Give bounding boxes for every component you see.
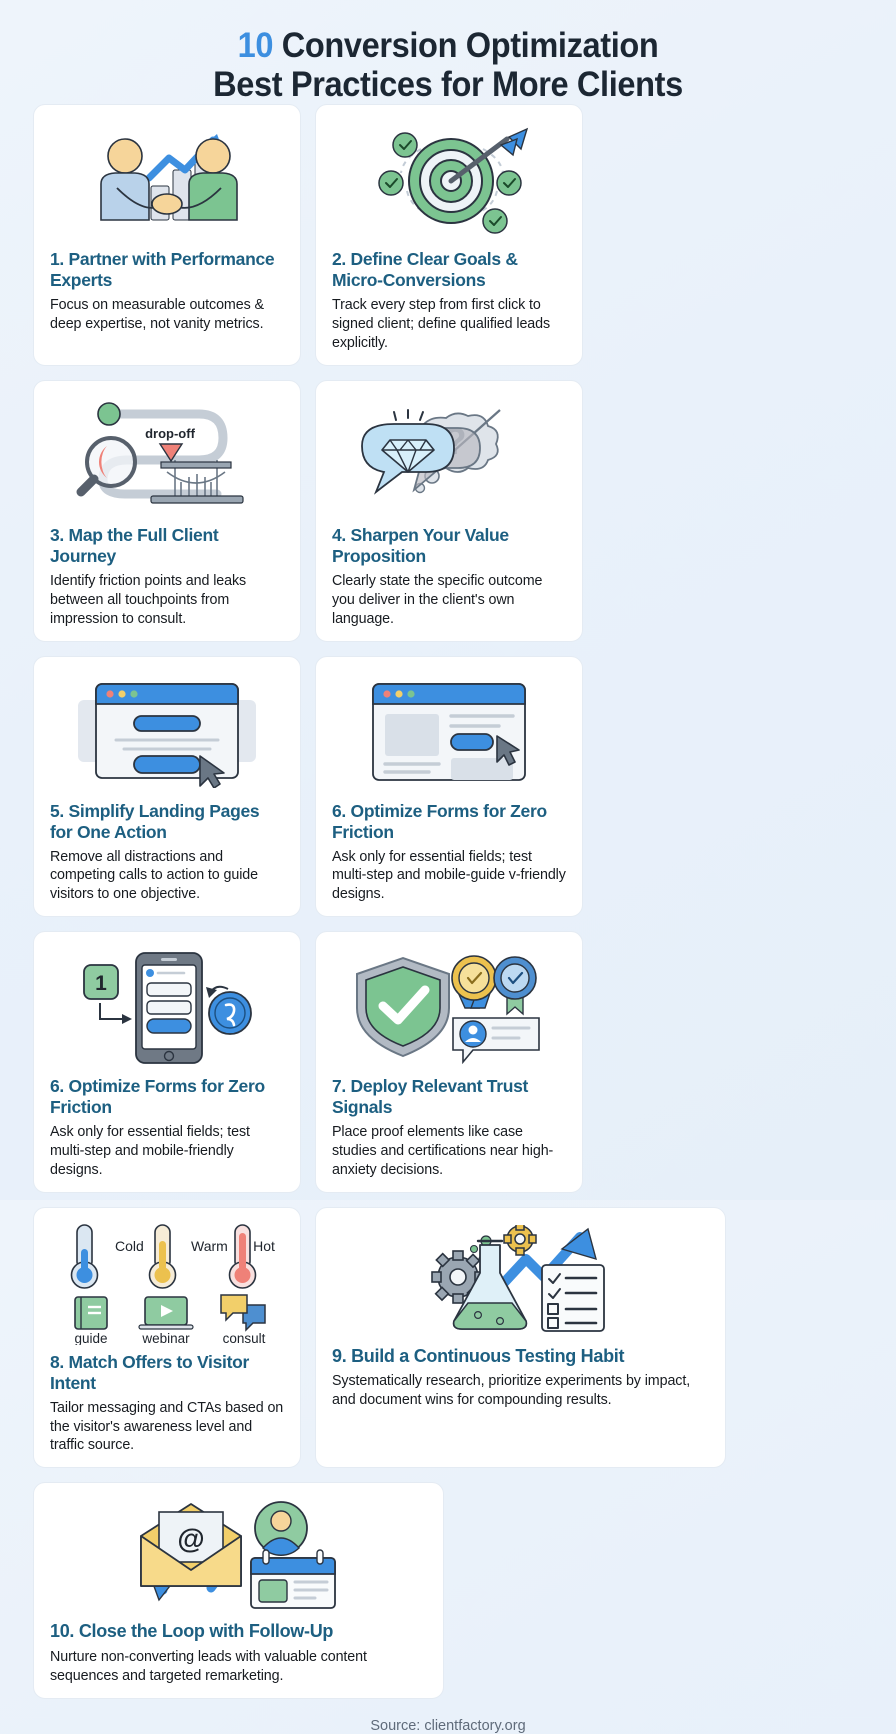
card-description: Clearly state the specific outcome you d… — [332, 572, 566, 629]
infographic-page: 10 Conversion Optimization Best Practice… — [0, 0, 896, 1200]
svg-text:@: @ — [177, 1523, 204, 1554]
card-1[interactable]: 1. Partner with Performance Experts Focu… — [33, 104, 301, 366]
card-description: Identify friction points and leaks betwe… — [50, 572, 284, 629]
card-heading: 1. Partner with Performance Experts — [50, 249, 284, 291]
card-heading: 6. Optimize Forms for Zero Friction — [332, 801, 566, 843]
title-line-1: 10 Conversion Optimization — [31, 26, 864, 65]
handshake-growth-icon — [50, 119, 284, 243]
art-label-dropoff: drop-off — [145, 426, 195, 441]
envelope-avatar-calendar-icon: @ — [50, 1497, 427, 1615]
card-9[interactable]: Cold Warm — [33, 1207, 301, 1469]
card-description: Tailor messaging and CTAs based on the v… — [50, 1399, 284, 1456]
card-description: Place proof elements like case studies a… — [332, 1123, 566, 1180]
card-heading: 5. Simplify Landing Pages for One Action — [50, 801, 284, 843]
shield-badges-testimonial-icon — [332, 946, 566, 1070]
page-title: 10 Conversion Optimization Best Practice… — [0, 0, 896, 104]
mobile-form-steps-icon: 1 — [50, 946, 284, 1070]
speech-bubble-diamond-icon: ? — [332, 395, 566, 519]
art-label-webinar: webinar — [141, 1331, 190, 1345]
card-8[interactable]: 7. Deploy Relevant Trust Signals Place p… — [315, 931, 583, 1193]
flask-gears-checklist-icon — [332, 1222, 709, 1340]
cards-grid: 1. Partner with Performance Experts Focu… — [33, 104, 863, 1698]
card-heading: 10. Close the Loop with Follow-Up — [50, 1621, 427, 1643]
card-description: Ask only for essential fields; test mult… — [332, 848, 566, 905]
card-heading: 8. Match Offers to Visitor Intent — [50, 1352, 284, 1394]
title-line-2: Best Practices for More Clients — [31, 65, 864, 104]
art-label-consult: consult — [223, 1331, 266, 1345]
card-heading: 4. Sharpen Your Value Proposition — [332, 525, 566, 567]
target-arrow-checks-icon — [332, 119, 566, 243]
art-label-step: 1 — [95, 972, 107, 995]
card-10[interactable]: 9. Build a Continuous Testing Habit Syst… — [315, 1207, 726, 1469]
card-description: Focus on measurable outcomes & deep expe… — [50, 296, 284, 334]
card-description: Remove all distractions and competing ca… — [50, 848, 284, 905]
card-description: Ask only for essential fields; test mult… — [50, 1123, 284, 1180]
card-4[interactable]: ? — [315, 380, 583, 642]
card-7[interactable]: 1 6. Optimize Forms for Zero Friction As… — [33, 931, 301, 1193]
title-number: 10 — [238, 26, 273, 65]
card-heading: 6. Optimize Forms for Zero Friction — [50, 1076, 284, 1118]
journey-map-magnifier-icon: drop-off — [50, 395, 284, 519]
card-heading: 9. Build a Continuous Testing Habit — [332, 1346, 709, 1368]
card-3[interactable]: drop-off — [33, 380, 301, 642]
card-description: Track every step from first click to sig… — [332, 296, 566, 353]
card-heading: 3. Map the Full Client Journey — [50, 525, 284, 567]
form-layout-window-icon — [332, 671, 566, 795]
card-heading: 7. Deploy Relevant Trust Signals — [332, 1076, 566, 1118]
art-label-guide: guide — [74, 1331, 107, 1345]
source-footer: Source: clientfactory.org — [0, 1718, 896, 1734]
card-description: Systematically research, prioritize expe… — [332, 1372, 709, 1410]
thermometers-intent-icon: Cold Warm — [50, 1222, 284, 1346]
landing-page-window-icon — [50, 671, 284, 795]
art-label-hot: Hot — [253, 1238, 275, 1254]
card-2[interactable]: 2. Define Clear Goals & Micro-Conversion… — [315, 104, 583, 366]
card-11[interactable]: @ 10. Close the Lo — [33, 1482, 444, 1698]
art-label-warm: Warm — [191, 1238, 228, 1254]
title-line-1-rest: Conversion Optimization — [273, 26, 658, 65]
card-6[interactable]: 6. Optimize Forms for Zero Friction Ask … — [315, 656, 583, 918]
card-description: Nurture non-converting leads with valuab… — [50, 1648, 427, 1686]
card-5[interactable]: 5. Simplify Landing Pages for One Action… — [33, 656, 301, 918]
card-heading: 2. Define Clear Goals & Micro-Conversion… — [332, 249, 566, 291]
art-label-cold: Cold — [115, 1238, 144, 1254]
